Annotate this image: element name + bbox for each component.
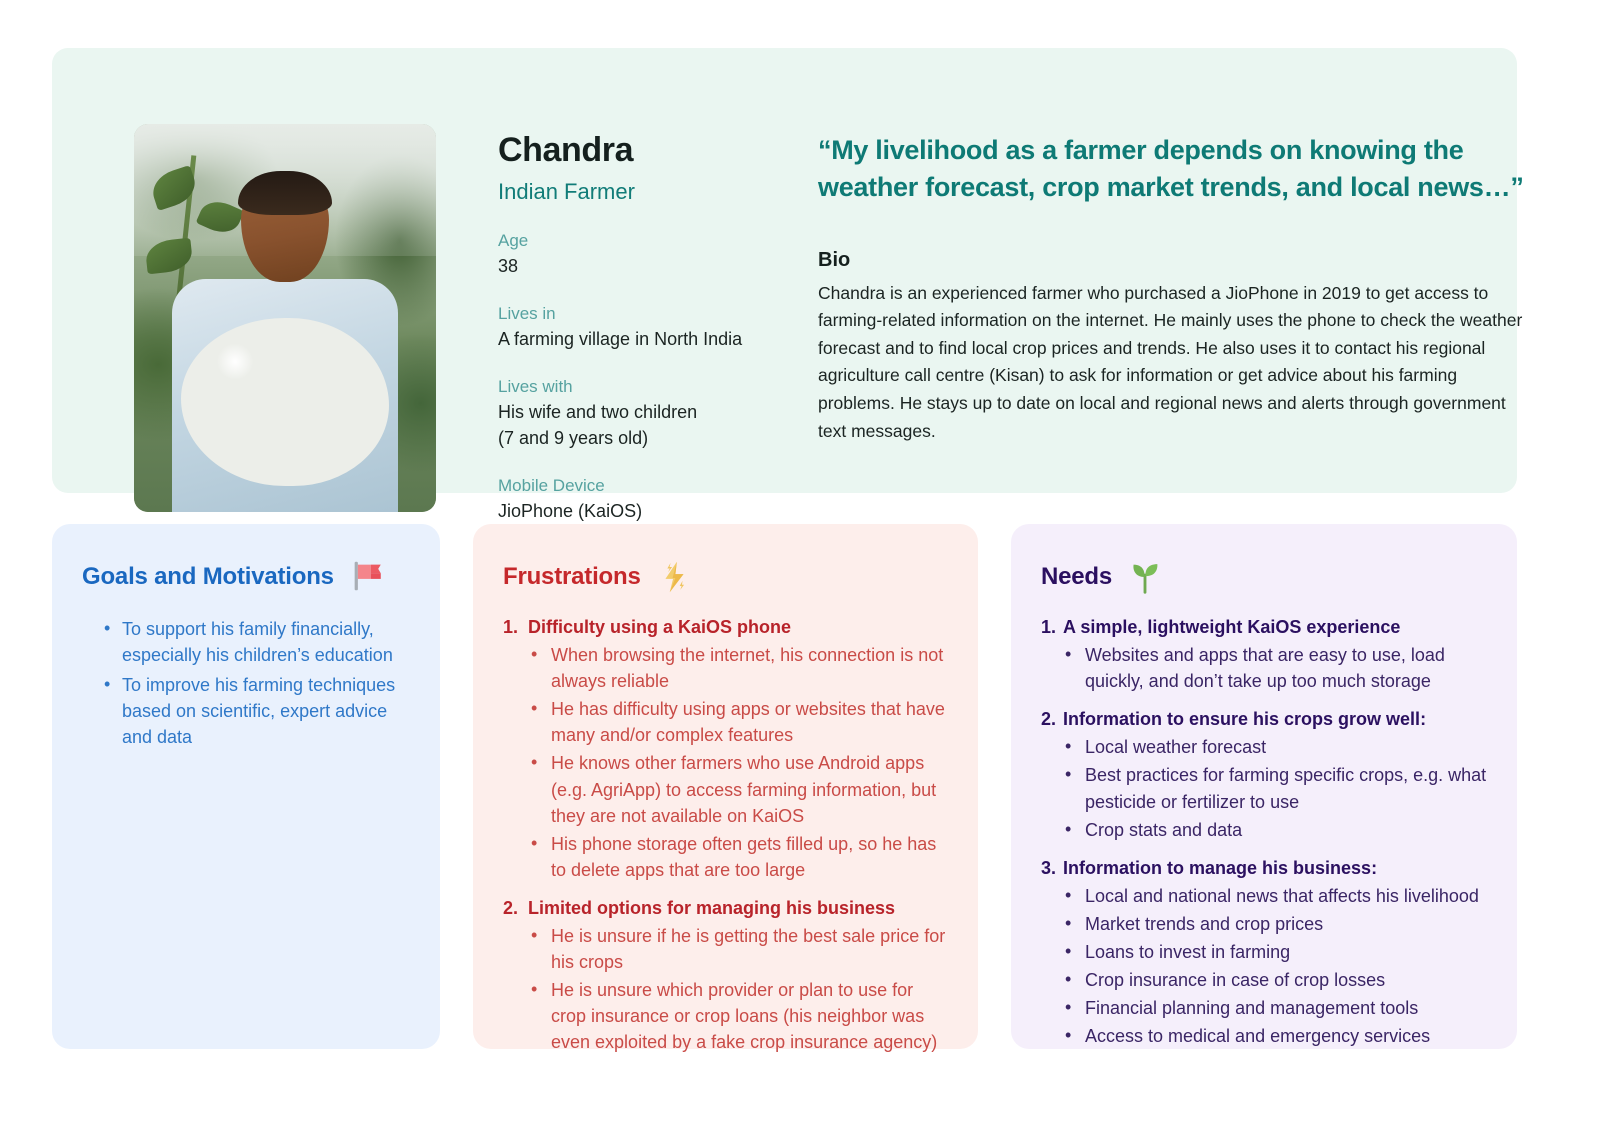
frustrations-card: Frustrations 1. Difficulty using a KaiOS… bbox=[473, 524, 978, 1049]
list-item: Local and national news that affects his… bbox=[1065, 883, 1487, 909]
persona-field-mobile-device: Mobile Device JioPhone (KaiOS) bbox=[498, 475, 794, 524]
needs-card: Needs 1. A simple, lightweight KaiOS exp… bbox=[1011, 524, 1517, 1049]
persona-field-lives-with: Lives with His wife and two children (7 … bbox=[498, 376, 794, 451]
avatar bbox=[134, 124, 436, 512]
persona-quote-and-bio: “My livelihood as a farmer depends on kn… bbox=[818, 132, 1530, 445]
persona-field-lives-in: Lives in A farming village in North Indi… bbox=[498, 303, 794, 352]
list-item: Best practices for farming specific crop… bbox=[1065, 762, 1487, 814]
group-number: 2. bbox=[1041, 706, 1056, 732]
group-heading: 2. Information to ensure his crops grow … bbox=[1041, 706, 1487, 732]
group-heading: 3. Information to manage his business: bbox=[1041, 855, 1487, 881]
frustrations-groups: 1. Difficulty using a KaiOS phone When b… bbox=[503, 614, 948, 1056]
list-item: Crop insurance in case of crop losses bbox=[1065, 967, 1487, 993]
seedling-icon bbox=[1126, 558, 1164, 596]
need-group: 1. A simple, lightweight KaiOS experienc… bbox=[1041, 614, 1487, 694]
frustration-group: 2. Limited options for managing his busi… bbox=[503, 895, 948, 1056]
need-group: 3. Information to manage his business: L… bbox=[1041, 855, 1487, 1050]
list-item: Local weather forecast bbox=[1065, 734, 1487, 760]
group-heading-text: Difficulty using a KaiOS phone bbox=[528, 614, 791, 640]
frustration-sub-list: When browsing the internet, his connecti… bbox=[503, 642, 948, 883]
need-sub-list: Local and national news that affects his… bbox=[1041, 883, 1487, 1050]
group-heading-text: Information to ensure his crops grow wel… bbox=[1063, 706, 1426, 732]
photo-cotton-bundle bbox=[181, 318, 389, 486]
list-item: Market trends and crop prices bbox=[1065, 911, 1487, 937]
group-heading-text: A simple, lightweight KaiOS experience bbox=[1063, 614, 1400, 640]
list-item: He is unsure if he is getting the best s… bbox=[531, 923, 948, 975]
group-number: 2. bbox=[503, 895, 518, 921]
list-item: He has difficulty using apps or websites… bbox=[531, 696, 948, 748]
frustrations-card-title: Frustrations bbox=[503, 563, 641, 591]
list-item: Access to medical and emergency services bbox=[1065, 1023, 1487, 1049]
list-item: Financial planning and management tools bbox=[1065, 995, 1487, 1021]
persona-header-card: Chandra Indian Farmer Age 38 Lives in A … bbox=[52, 48, 1517, 493]
frustration-sub-list: He is unsure if he is getting the best s… bbox=[503, 923, 948, 1055]
group-heading: 1. Difficulty using a KaiOS phone bbox=[503, 614, 948, 640]
group-heading-text: Limited options for managing his busines… bbox=[528, 895, 895, 921]
page-title: Chandra bbox=[498, 132, 794, 169]
group-number: 1. bbox=[503, 614, 518, 640]
field-label: Mobile Device bbox=[498, 475, 794, 498]
persona-quote: “My livelihood as a farmer depends on kn… bbox=[818, 132, 1530, 207]
list-item: When browsing the internet, his connecti… bbox=[531, 642, 948, 694]
goals-list: To support his family financially, espec… bbox=[82, 616, 410, 750]
need-group: 2. Information to ensure his crops grow … bbox=[1041, 706, 1487, 842]
persona-identity: Chandra Indian Farmer Age 38 Lives in A … bbox=[498, 132, 794, 524]
bio-text: Chandra is an experienced farmer who pur… bbox=[818, 280, 1530, 446]
high-voltage-icon bbox=[655, 558, 693, 596]
field-value: A farming village in North India bbox=[498, 326, 794, 352]
bio-heading: Bio bbox=[818, 249, 1530, 272]
field-label: Age bbox=[498, 230, 794, 253]
field-value: 38 bbox=[498, 253, 794, 279]
needs-groups: 1. A simple, lightweight KaiOS experienc… bbox=[1041, 614, 1487, 1049]
group-number: 3. bbox=[1041, 855, 1056, 881]
field-value: His wife and two children (7 and 9 years… bbox=[498, 399, 794, 451]
needs-card-header: Needs bbox=[1041, 554, 1487, 600]
group-heading: 2. Limited options for managing his busi… bbox=[503, 895, 948, 921]
field-label: Lives with bbox=[498, 376, 794, 399]
frustration-group: 1. Difficulty using a KaiOS phone When b… bbox=[503, 614, 948, 883]
need-sub-list: Local weather forecast Best practices fo… bbox=[1041, 734, 1487, 842]
list-item: He is unsure which provider or plan to u… bbox=[531, 977, 948, 1055]
goals-card-header: Goals and Motivations bbox=[82, 554, 410, 600]
group-heading-text: Information to manage his business: bbox=[1063, 855, 1377, 881]
list-item: He knows other farmers who use Android a… bbox=[531, 750, 948, 828]
field-value: JioPhone (KaiOS) bbox=[498, 498, 794, 524]
needs-card-title: Needs bbox=[1041, 563, 1112, 591]
goals-card: Goals and Motivations To support his fam… bbox=[52, 524, 440, 1049]
red-flag-icon bbox=[348, 558, 386, 596]
list-item: Crop stats and data bbox=[1065, 817, 1487, 843]
group-heading: 1. A simple, lightweight KaiOS experienc… bbox=[1041, 614, 1487, 640]
list-item: To improve his farming techniques based … bbox=[104, 672, 410, 750]
list-item: His phone storage often gets filled up, … bbox=[531, 831, 948, 883]
goals-card-title: Goals and Motivations bbox=[82, 563, 334, 591]
group-number: 1. bbox=[1041, 614, 1056, 640]
persona-role: Indian Farmer bbox=[498, 179, 794, 205]
field-label: Lives in bbox=[498, 303, 794, 326]
farmer-photo bbox=[134, 124, 436, 512]
list-item: To support his family financially, espec… bbox=[104, 616, 410, 668]
list-item: Loans to invest in farming bbox=[1065, 939, 1487, 965]
frustrations-card-header: Frustrations bbox=[503, 554, 948, 600]
persona-field-age: Age 38 bbox=[498, 230, 794, 279]
persona-detail-cards: Goals and Motivations To support his fam… bbox=[52, 524, 1517, 1049]
need-sub-list: Websites and apps that are easy to use, … bbox=[1041, 642, 1487, 694]
persona-page: Chandra Indian Farmer Age 38 Lives in A … bbox=[0, 0, 1600, 1123]
list-item: Websites and apps that are easy to use, … bbox=[1065, 642, 1487, 694]
